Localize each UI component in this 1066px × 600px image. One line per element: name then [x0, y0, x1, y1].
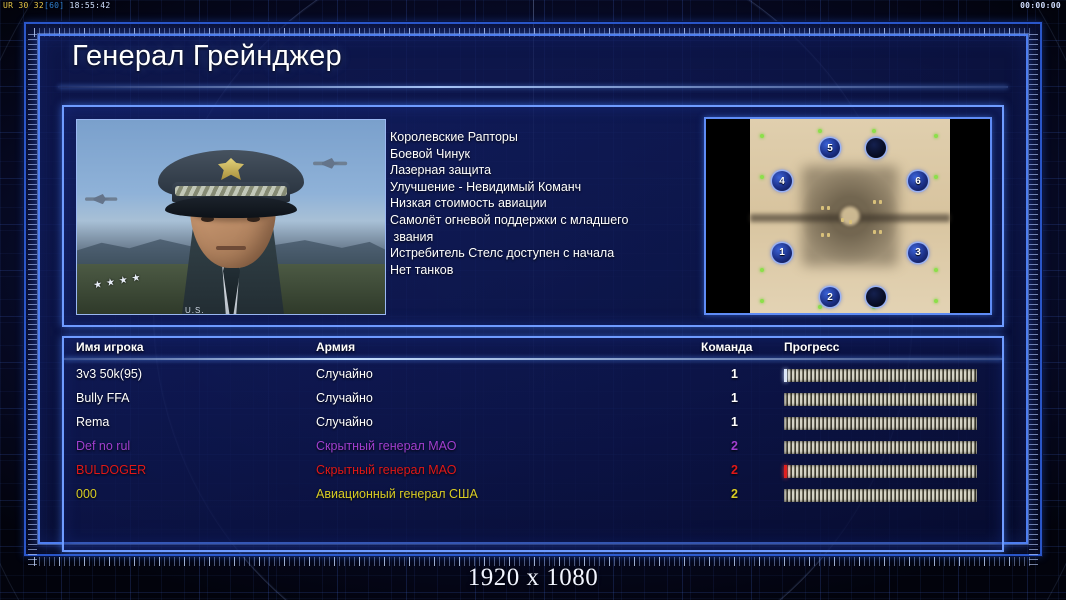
player-army: Скрытный генерал МАО	[316, 463, 456, 477]
general-portrait: ★★★★ U.S.	[76, 119, 386, 315]
table-row[interactable]: 000Авиационный генерал США2	[64, 484, 1002, 508]
table-row[interactable]: RemaСлучайно1	[64, 412, 1002, 436]
player-team: 2	[731, 487, 738, 501]
map-resource-dot	[818, 129, 822, 133]
ability-line: Лазерная защита	[390, 162, 690, 179]
map-structure-dot	[873, 200, 876, 204]
player-progress-bar	[784, 417, 977, 430]
general-info-panel: ★★★★ U.S. Королевские РапторыБоевой Чину…	[62, 105, 1004, 327]
map-resource-dot	[934, 268, 938, 272]
map-start-position[interactable]: 5	[820, 138, 840, 158]
player-name: Rema	[76, 415, 109, 429]
ability-line: Улучшение - Невидимый Команч	[390, 179, 690, 196]
match-timer: 00:00:00	[1020, 1, 1061, 10]
map-structure-dot	[821, 233, 824, 237]
player-army: Случайно	[316, 415, 373, 429]
hud-fps-cap: [60]	[44, 1, 64, 10]
player-progress-bar	[784, 369, 977, 382]
map-structure-dot	[827, 206, 830, 210]
map-structure-dot	[879, 200, 882, 204]
map-resource-dot	[934, 175, 938, 179]
player-team: 2	[731, 463, 738, 477]
map-resource-dot	[760, 299, 764, 303]
map-center-oasis	[838, 204, 862, 227]
hud-value-2: 32	[34, 1, 44, 10]
player-army: Случайно	[316, 367, 373, 381]
map-start-position[interactable]: 3	[908, 243, 928, 263]
roster-header-row: Имя игрока Армия Команда Прогресс	[64, 338, 1002, 360]
player-name: 3v3 50k(95)	[76, 367, 142, 381]
map-structure-dot	[841, 218, 844, 222]
screen-root: UR 30 32[60] 18:55:42 00:00:00 Генерал Г…	[0, 0, 1066, 600]
uniform-us-label: U.S.	[185, 306, 205, 315]
map-preview-frame[interactable]: 123456	[704, 117, 992, 315]
player-team: 1	[731, 367, 738, 381]
map-resource-dot	[934, 299, 938, 303]
ability-line: Королевские Рапторы	[390, 129, 690, 146]
column-header-name: Имя игрока	[76, 340, 144, 354]
map-start-position[interactable]: 1	[772, 243, 792, 263]
map-resource-dot	[872, 129, 876, 133]
title-divider	[58, 86, 1008, 88]
map-resource-dot	[818, 305, 822, 309]
map-start-position[interactable]: 4	[772, 171, 792, 191]
player-name: 000	[76, 487, 97, 501]
player-roster-panel: Имя игрока Армия Команда Прогресс 3v3 50…	[62, 336, 1004, 552]
hud-clock: 18:55:42	[70, 1, 111, 10]
player-progress-bar	[784, 489, 977, 502]
column-header-team: Команда	[701, 340, 752, 354]
debug-hud-left: UR 30 32[60] 18:55:42	[3, 1, 110, 10]
player-progress-bar	[784, 465, 977, 478]
table-row[interactable]: 3v3 50k(95)Случайно1	[64, 364, 1002, 388]
map-structure-dot	[879, 230, 882, 234]
player-army: Случайно	[316, 391, 373, 405]
ability-line: звания	[390, 229, 690, 246]
portrait-cap-brim	[165, 196, 297, 218]
title-bar: Генерал Грейнджер	[58, 36, 1008, 86]
player-team: 1	[731, 391, 738, 405]
ability-line: Низкая стоимость авиации	[390, 195, 690, 212]
map-structure-dot	[873, 230, 876, 234]
map-structure-dot	[821, 206, 824, 210]
ability-line: Самолёт огневой поддержки с младшего	[390, 212, 690, 229]
player-name: Def no rul	[76, 439, 130, 453]
map-structure-dot	[827, 233, 830, 237]
scrambled-eggs-braid	[175, 186, 287, 196]
column-header-progress: Прогресс	[784, 340, 839, 354]
map-terrain-image: 123456	[750, 119, 950, 313]
ruler-left	[28, 34, 37, 566]
map-start-position[interactable]	[866, 138, 886, 158]
hud-tag: UR	[3, 1, 13, 10]
table-row[interactable]: BULDOGERСкрытный генерал МАО2	[64, 460, 1002, 484]
player-team: 2	[731, 439, 738, 453]
hud-value-1: 30	[18, 1, 28, 10]
map-resource-dot	[760, 134, 764, 138]
map-start-position[interactable]: 2	[820, 287, 840, 307]
portrait-mouth	[216, 246, 246, 250]
map-resource-dot	[934, 134, 938, 138]
page-title: Генерал Грейнджер	[72, 40, 342, 73]
map-structure-dot	[849, 220, 852, 224]
table-row[interactable]: Def no rulСкрытный генерал МАО2	[64, 436, 1002, 460]
player-name: BULDOGER	[76, 463, 146, 477]
map-resource-dot	[760, 175, 764, 179]
map-start-position[interactable]	[866, 287, 886, 307]
general-ability-list: Королевские РапторыБоевой ЧинукЛазерная …	[390, 129, 690, 278]
column-header-army: Армия	[316, 340, 355, 354]
table-row[interactable]: Bully FFAСлучайно1	[64, 388, 1002, 412]
ruler-right	[1029, 34, 1038, 566]
roster-header-divider	[64, 358, 1002, 360]
player-army: Авиационный генерал США	[316, 487, 478, 501]
resolution-label: 1920 x 1080	[0, 564, 1066, 592]
player-progress-bar	[784, 441, 977, 454]
ability-line: Нет танков	[390, 262, 690, 279]
ability-line: Боевой Чинук	[390, 146, 690, 163]
player-name: Bully FFA	[76, 391, 130, 405]
map-start-position[interactable]: 6	[908, 171, 928, 191]
player-progress-bar	[784, 393, 977, 406]
player-team: 1	[731, 415, 738, 429]
player-army: Скрытный генерал МАО	[316, 439, 456, 453]
map-resource-dot	[760, 268, 764, 272]
ability-line: Истребитель Стелс доступен с начала	[390, 245, 690, 262]
